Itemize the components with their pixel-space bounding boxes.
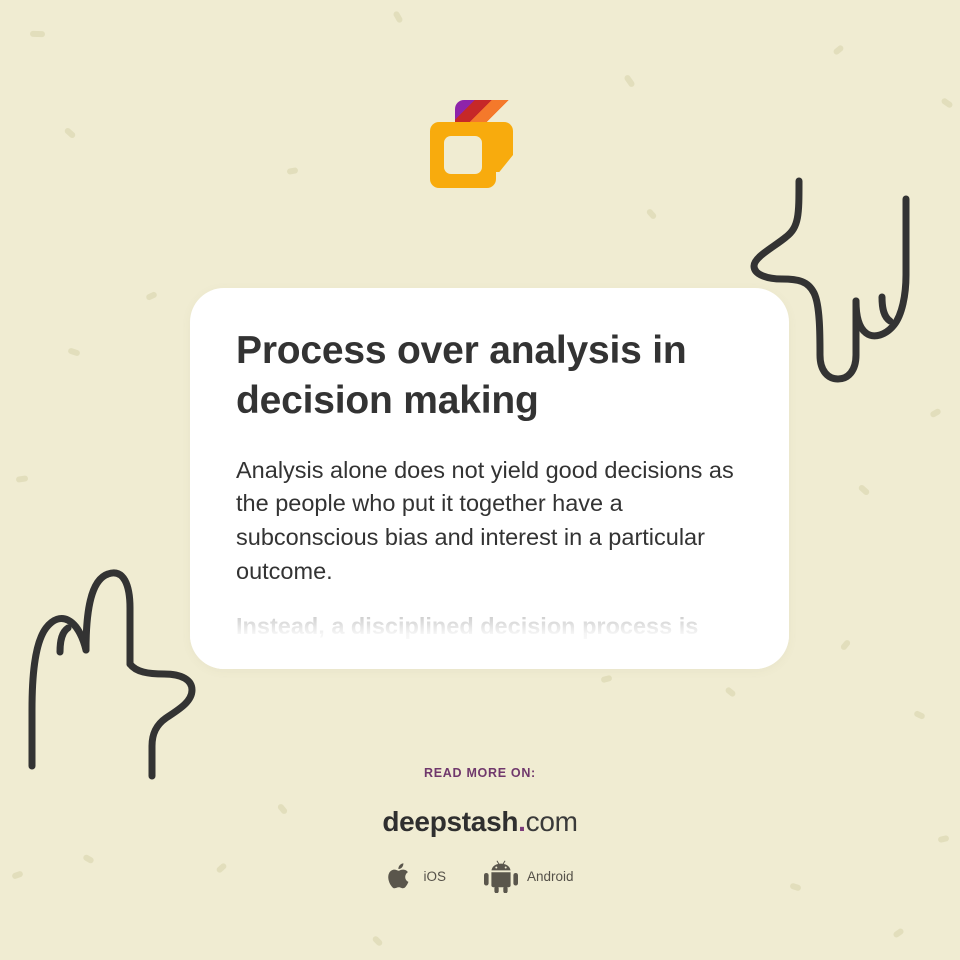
deepstash-share-card: Process over analysis in decision making… — [0, 0, 960, 960]
android-icon — [484, 860, 518, 893]
ios-label: iOS — [423, 869, 446, 884]
deepstash-logo — [425, 98, 521, 198]
brand-url[interactable]: deepstash.com — [0, 806, 960, 838]
logo-front-square — [430, 122, 496, 188]
card-title: Process over analysis in decision making — [236, 326, 743, 426]
android-badge[interactable]: Android — [484, 860, 574, 893]
apple-icon — [386, 860, 414, 893]
idea-card[interactable]: Process over analysis in decision making… — [190, 288, 789, 669]
footer: READ MORE ON: deepstash.com iOS — [0, 766, 960, 893]
card-body-text: Analysis alone does not yield good decis… — [236, 454, 743, 588]
android-label: Android — [527, 869, 574, 884]
ios-badge[interactable]: iOS — [386, 860, 446, 893]
card-faded-text: Instead, a disciplined decision process … — [236, 610, 743, 669]
brand-tld: com — [526, 806, 578, 837]
app-store-badges: iOS Android — [0, 860, 960, 893]
brand-name: deepstash — [382, 806, 518, 837]
brand-dot: . — [518, 806, 525, 837]
pointing-hand-up-icon — [20, 560, 215, 785]
read-more-label: READ MORE ON: — [0, 766, 960, 780]
